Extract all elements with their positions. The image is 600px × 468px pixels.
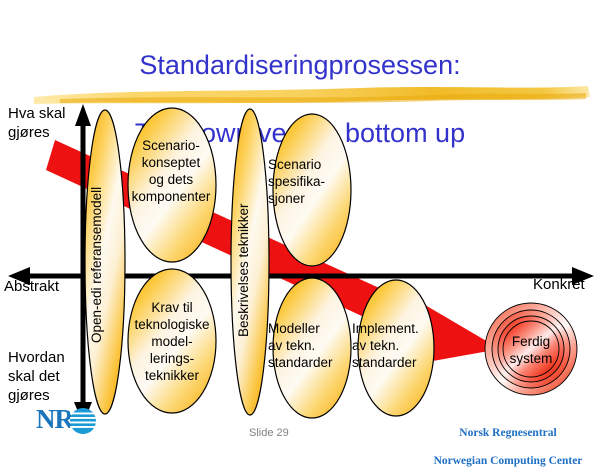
ferdig-system-target[interactable] — [485, 303, 577, 395]
axis-label-hvordan-skal-det-gjores: Hvordan skal det gjøres — [8, 348, 86, 405]
axis-label-abstrakt: Abstrakt — [4, 277, 59, 296]
axis-label-konkret: Konkret — [533, 275, 585, 294]
org-name-no: Norsk Regnesentral — [459, 427, 556, 439]
organisation-footer: Norsk Regnesentral Norwegian Computing C… — [420, 412, 596, 468]
axis-label-hva-skal-gjores: Hva skal gjøres — [8, 104, 84, 142]
slide-canvas: Standardiseringprosessen: Top down versu… — [0, 0, 600, 450]
slide-number: Slide 29 — [249, 427, 289, 439]
org-name-en: Norwegian Computing Center — [434, 455, 583, 467]
ferdig-system-layer — [0, 0, 600, 450]
nr-logo-mark — [36, 404, 106, 438]
nr-globe-icon — [70, 408, 96, 434]
